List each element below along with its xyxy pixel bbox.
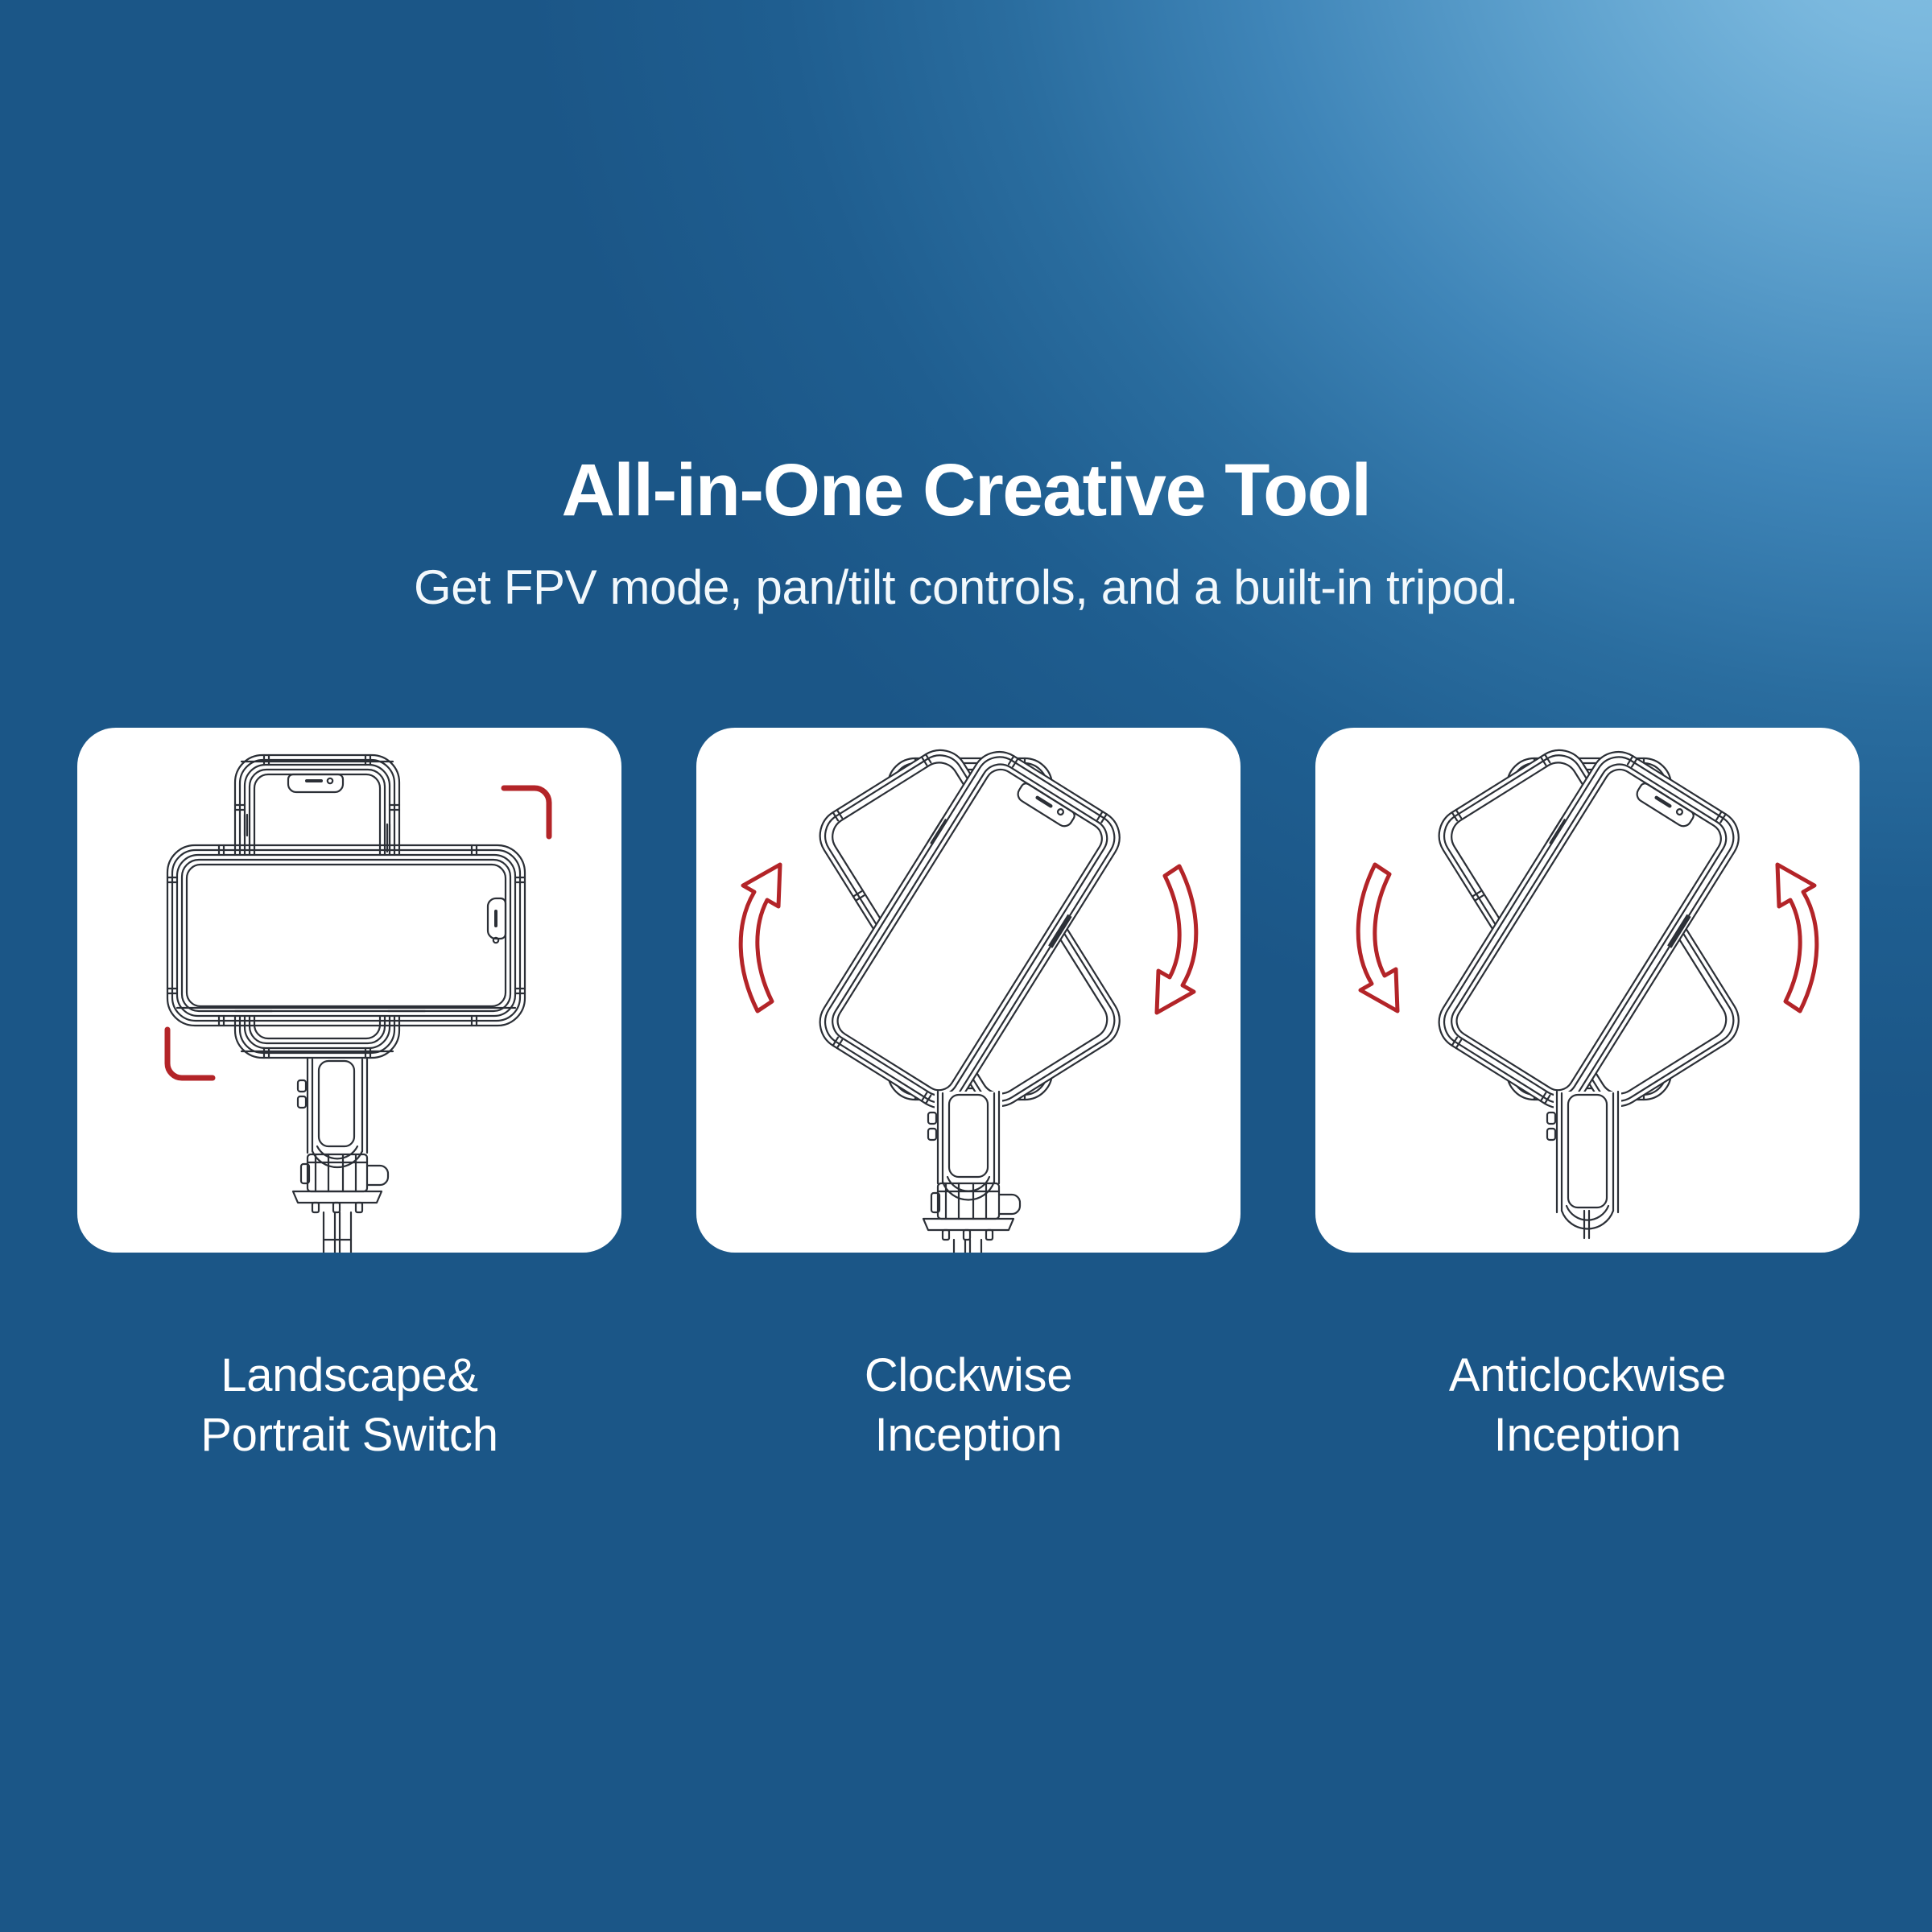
- caption-row: Landscape& Portrait Switch Clockwise Inc…: [77, 1346, 1860, 1465]
- curved-arrow-left-up: [741, 865, 780, 1011]
- feature-card-row: [77, 728, 1860, 1253]
- corner-bracket-top-right: [504, 788, 549, 836]
- caption-landscape-portrait-switch: Landscape& Portrait Switch: [77, 1346, 621, 1465]
- caption-line-1: Landscape&: [221, 1349, 477, 1402]
- caption-line-1: Anticlockwise: [1449, 1349, 1726, 1402]
- caption-line-2: Portrait Switch: [77, 1406, 621, 1465]
- phone-landscape-outline: [177, 855, 515, 1016]
- caption-line-2: Inception: [696, 1406, 1241, 1465]
- curved-arrow-right-up: [1777, 865, 1817, 1011]
- feature-card-clockwise-inception: [696, 728, 1241, 1253]
- caption-anticlockwise-inception: Anticlockwise Inception: [1315, 1346, 1860, 1465]
- page-subtitle: Get FPV mode, pan/tilt controls, and a b…: [0, 561, 1932, 614]
- caption-line-2: Inception: [1315, 1406, 1860, 1465]
- gimbal-handle: [293, 1058, 388, 1253]
- gimbal-handle: [935, 1092, 1002, 1182]
- caption-line-1: Clockwise: [865, 1349, 1072, 1402]
- header-block: All-in-One Creative Tool Get FPV mode, p…: [0, 451, 1932, 614]
- promo-banner: All-in-One Creative Tool Get FPV mode, p…: [0, 0, 1932, 1932]
- page-title: All-in-One Creative Tool: [0, 451, 1932, 530]
- gimbal-handle: [1554, 1092, 1621, 1220]
- curved-arrow-right-down: [1157, 866, 1196, 1013]
- illustration-landscape-portrait-switch: [77, 728, 621, 1253]
- caption-clockwise-inception: Clockwise Inception: [696, 1346, 1241, 1465]
- feature-card-landscape-portrait-switch: [77, 728, 621, 1253]
- corner-bracket-bottom-left: [167, 1030, 213, 1078]
- feature-card-anticlockwise-inception: [1315, 728, 1860, 1253]
- illustration-anticlockwise-inception: [1315, 728, 1860, 1253]
- illustration-clockwise-inception: [696, 728, 1241, 1253]
- curved-arrow-left-down: [1358, 865, 1397, 1011]
